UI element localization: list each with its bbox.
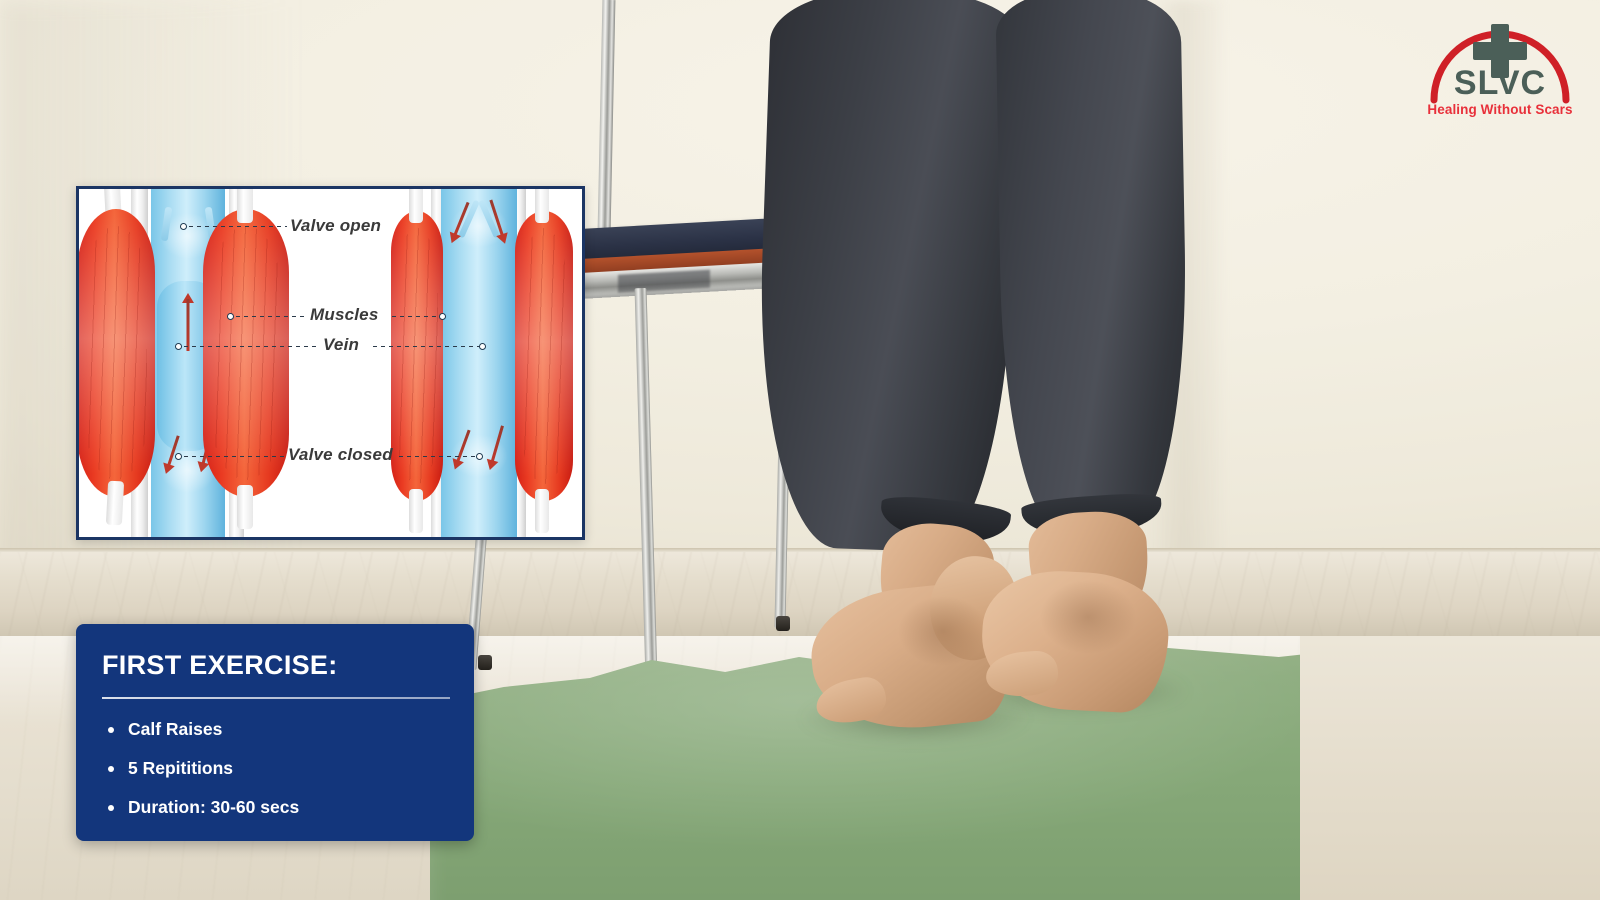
leader-line-vein-left <box>184 346 319 347</box>
label-valve-open: Valve open <box>290 216 381 236</box>
tendon-right-b-top <box>535 186 549 223</box>
muscle-right-relaxed-b <box>515 211 573 501</box>
exercise-card-divider <box>102 697 450 699</box>
calf-pump-diagram: Valve open Muscles Vein Valve closed <box>76 186 585 540</box>
tendon-right-a-bottom <box>409 489 423 533</box>
muscle-left-contracted-a <box>77 209 155 497</box>
leader-line-valve-closed-right <box>399 456 479 457</box>
tendon-right-b-bottom <box>535 489 549 533</box>
leader-dot-muscles-left <box>227 313 234 320</box>
list-item: Duration: 30-60 secs <box>102 797 448 818</box>
blood-flow-arrow-up <box>180 299 196 351</box>
chair-foot-cap-right <box>776 616 790 631</box>
legging-right <box>995 0 1189 532</box>
tendon-left-b-top <box>237 186 253 223</box>
floor-right-section <box>1300 636 1600 900</box>
legging-left <box>752 0 1021 554</box>
leader-dot-vein-right <box>479 343 486 350</box>
tendon-left-b-bottom <box>237 485 253 529</box>
tendon-left-bottom <box>106 481 124 526</box>
leader-line-vein-right <box>373 346 483 347</box>
exercise-info-card: FIRST EXERCISE: Calf Raises 5 Repitition… <box>76 624 474 841</box>
label-vein: Vein <box>323 335 359 355</box>
tendon-right-a-top <box>409 186 423 223</box>
leader-dot-valve-closed-right <box>476 453 483 460</box>
skirting-top-edge <box>0 548 1600 552</box>
leader-dot-vein-left <box>175 343 182 350</box>
chair-foot-cap-left <box>478 655 492 670</box>
muscle-left-contracted-b <box>203 209 289 497</box>
list-item: Calf Raises <box>102 719 448 740</box>
leader-line-valve-open <box>189 226 287 227</box>
foot-right-shading <box>1040 580 1136 654</box>
video-frame: Valve open Muscles Vein Valve closed FIR… <box>0 0 1600 900</box>
logo-tagline-text: Healing Without Scars <box>1410 102 1590 117</box>
leader-line-muscles-left <box>236 316 308 317</box>
list-item: 5 Repititions <box>102 758 448 779</box>
muscle-right-relaxed-a <box>391 211 443 501</box>
exercise-detail-list: Calf Raises 5 Repititions Duration: 30-6… <box>102 719 448 818</box>
exercise-card-title: FIRST EXERCISE: <box>102 650 448 681</box>
label-muscles: Muscles <box>310 305 379 325</box>
leader-dot-muscles-right <box>439 313 446 320</box>
slvc-logo: SLVC Healing Without Scars <box>1410 6 1590 118</box>
leader-dot-valve-closed-left <box>175 453 182 460</box>
label-valve-closed: Valve closed <box>288 445 393 465</box>
foot-left-shading <box>898 596 988 666</box>
logo-brand-text: SLVC <box>1410 64 1590 103</box>
leader-dot-valve-open <box>180 223 187 230</box>
leader-line-valve-closed-left <box>184 456 286 457</box>
leader-line-muscles-right <box>392 316 444 317</box>
